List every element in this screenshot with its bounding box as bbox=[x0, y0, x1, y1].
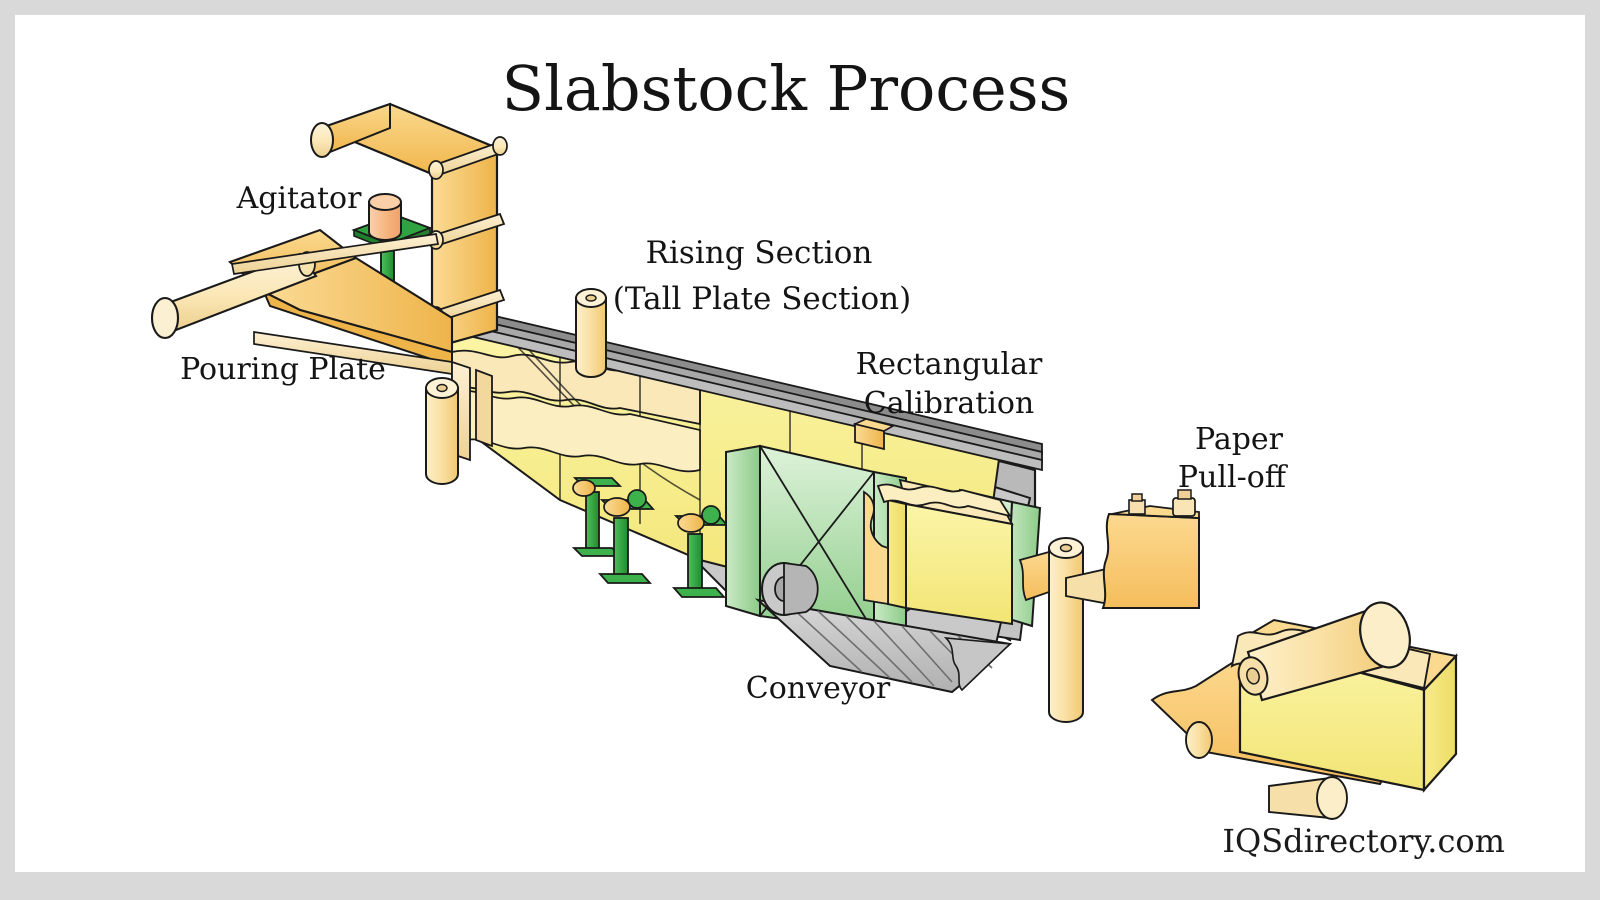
paper-roll-under-plate bbox=[426, 378, 458, 484]
label-rising-section-line1: Rising Section bbox=[646, 235, 873, 271]
label-agitator: Agitator bbox=[236, 181, 363, 216]
label-rising-section-line2: (Tall Plate Section) bbox=[613, 281, 911, 317]
pulloff-paper-panel bbox=[1103, 490, 1199, 608]
calibrated-foam-block-side bbox=[888, 500, 906, 608]
label-rectangular-calibration-line2: Calibration bbox=[864, 386, 1035, 421]
label-paper-pull-off-line1: Paper bbox=[1195, 422, 1284, 457]
image-frame: Slabstock Process Agitator Pouring Plate… bbox=[0, 0, 1600, 900]
pouring-column-2 bbox=[476, 370, 492, 446]
conveyor-head-roller bbox=[762, 563, 818, 615]
label-rectangular-calibration-line1: Rectangular bbox=[856, 347, 1043, 382]
page-title: Slabstock Process bbox=[502, 52, 1071, 125]
feed-pipe-mouth bbox=[152, 298, 178, 338]
tower-joint-upper-right bbox=[493, 137, 507, 155]
leg-roller-2 bbox=[604, 498, 630, 516]
label-paper-pull-off-line2: Pull-off bbox=[1178, 460, 1289, 495]
pullorff-roll-tall bbox=[1049, 538, 1083, 722]
agitator-drum-top bbox=[369, 194, 401, 210]
tower-feed-pipe-cap bbox=[311, 123, 333, 157]
slab-bottom-roller bbox=[1269, 777, 1347, 819]
leg-roller-1 bbox=[573, 480, 595, 496]
tower-joint-top bbox=[429, 161, 443, 179]
calib-left-panel bbox=[726, 446, 760, 616]
paper-pull-off-rolls bbox=[1020, 490, 1199, 722]
slabstock-process-diagram: Slabstock Process Agitator Pouring Plate… bbox=[0, 0, 1600, 900]
label-pouring-plate: Pouring Plate bbox=[180, 352, 386, 387]
leg-roller-3 bbox=[678, 514, 704, 532]
slab-tail-roller bbox=[1186, 722, 1212, 758]
watermark: IQSdirectory.com bbox=[1222, 822, 1505, 860]
pulloff-cap-left bbox=[1129, 494, 1145, 514]
leg-pivot-2 bbox=[628, 490, 646, 508]
leg-pivot-3 bbox=[702, 506, 720, 524]
label-conveyor: Conveyor bbox=[746, 671, 891, 706]
calibrated-foam-block-face bbox=[906, 504, 1012, 624]
final-foam-slab-assembly bbox=[1152, 597, 1456, 819]
pulloff-panel-body bbox=[1103, 514, 1199, 608]
tall-plate-paper-roll bbox=[576, 289, 606, 377]
pulloff-paper-sheet-left bbox=[1020, 552, 1049, 600]
